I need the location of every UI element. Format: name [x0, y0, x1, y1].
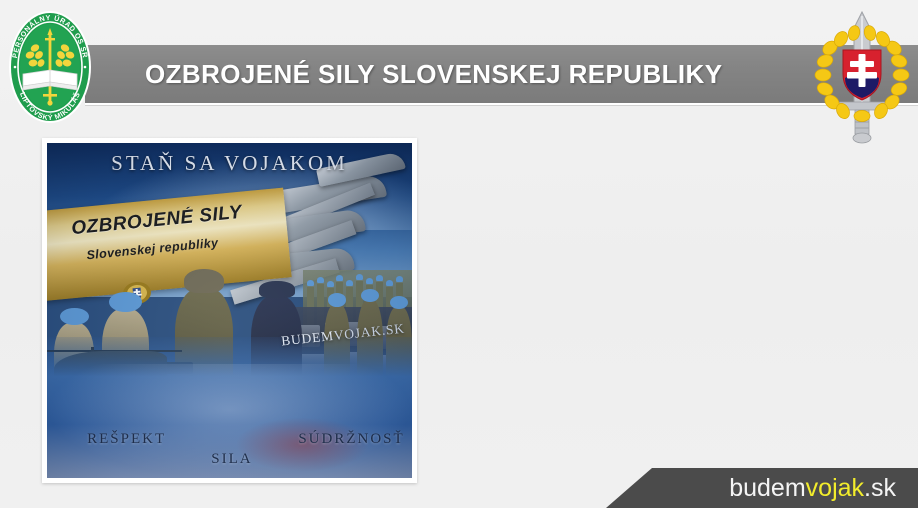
poster-headline: STAŇ SA VOJAKOM [47, 151, 412, 176]
blue-beret-icon [109, 292, 142, 312]
poster-canvas: OZBROJENÉ SILY Slovenskej republiky STAŇ… [47, 143, 412, 478]
poster-value-respekt: REŠPEKT [87, 431, 166, 448]
poster-value-sudrznost: SÚDRŽNOSŤ [298, 431, 404, 448]
personnel-office-logo-icon: PERSONÁLNY ÚRAD OS SR LIPTOVSKÝ MIKULÁŠ [6, 8, 94, 126]
blue-beret-icon [60, 308, 89, 325]
officer-cap-icon [259, 281, 296, 298]
brand-part-sk: .sk [864, 474, 896, 502]
slovak-armed-forces-emblem [812, 8, 912, 144]
combat-helmet-icon [184, 269, 224, 293]
site-brand-logo[interactable]: budemvojak.sk [729, 468, 896, 508]
slide-canvas: OZBROJENÉ SILY SLOVENSKEJ REPUBLIKY PERS… [0, 0, 918, 508]
poster-value-sila: SILA [211, 451, 252, 468]
brand-part-vojak: vojak [806, 474, 864, 502]
recruitment-poster-image[interactable]: OZBROJENÉ SILY Slovenskej republiky STAŇ… [42, 138, 417, 483]
personnel-office-logo: PERSONÁLNY ÚRAD OS SR LIPTOVSKÝ MIKULÁŠ [6, 8, 94, 126]
page-title: OZBROJENÉ SILY SLOVENSKEJ REPUBLIKY [145, 45, 722, 103]
header-bar: OZBROJENÉ SILY SLOVENSKEJ REPUBLIKY [85, 45, 918, 103]
brand-part-budem: budem [729, 474, 805, 502]
armed-forces-emblem-icon [812, 8, 912, 144]
footer-bar: budemvojak.sk [606, 468, 918, 508]
